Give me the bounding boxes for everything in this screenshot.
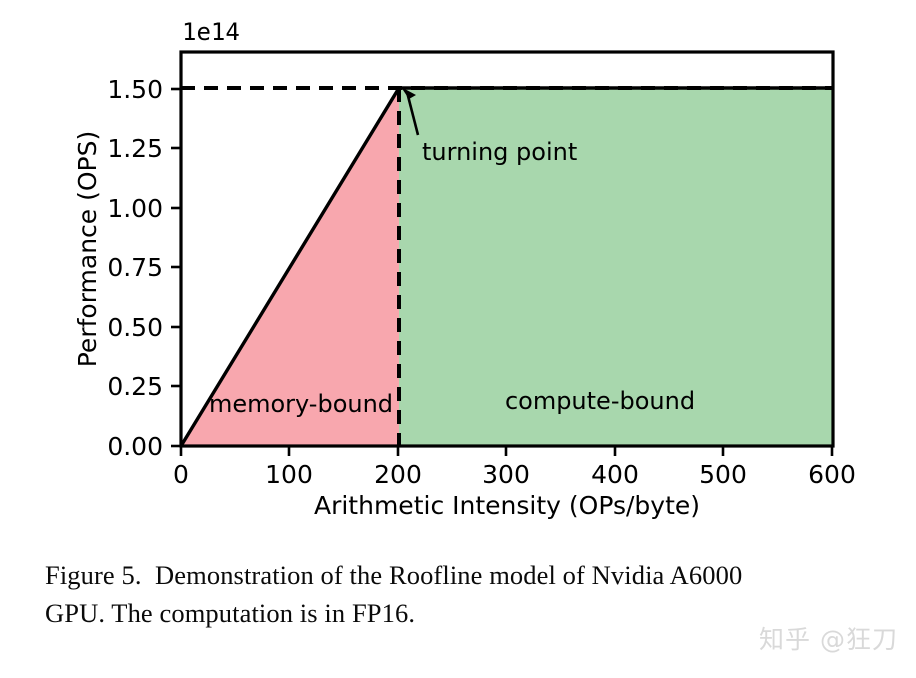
x-tick-label-300: 300 <box>482 460 530 489</box>
x-tick-label-0: 0 <box>173 460 189 489</box>
roofline-chart: turning point memory-bound compute-bound… <box>0 0 916 540</box>
y-tick-label-075: 0.75 <box>107 253 163 282</box>
x-tick-label-600: 600 <box>808 460 856 489</box>
y-tick-label-125: 1.25 <box>107 134 163 163</box>
y-tick-label-025: 0.25 <box>107 372 163 401</box>
y-axis-offset-text: 1e14 <box>182 18 240 46</box>
memory-bound-label: memory-bound <box>209 390 393 418</box>
x-axis-title: Arithmetic Intensity (OPs/byte) <box>314 491 700 520</box>
y-tick-label-100: 1.00 <box>107 194 163 223</box>
zhihu-watermark: 知乎 @狂刀 <box>759 620 898 656</box>
x-tick-label-200: 200 <box>374 460 422 489</box>
y-axis-title: Performance (OPS) <box>73 131 102 368</box>
y-tick-label-050: 0.50 <box>107 313 163 342</box>
y-tick-label-150: 1.50 <box>107 75 163 104</box>
x-tick-label-500: 500 <box>699 460 747 489</box>
y-tick-label-000: 0.00 <box>107 432 163 461</box>
x-tick-label-100: 100 <box>265 460 313 489</box>
turning-point-label: turning point <box>422 138 577 166</box>
x-tick-label-400: 400 <box>591 460 639 489</box>
y-axis-tick-labels: 0.00 0.25 0.50 0.75 1.00 1.25 1.50 <box>107 75 163 461</box>
caption-line-1: Figure 5. Demonstration of the Roofline … <box>45 556 885 594</box>
chart-canvas: turning point memory-bound compute-bound… <box>0 0 916 540</box>
compute-bound-label: compute-bound <box>505 387 695 415</box>
x-axis-tick-labels: 0 100 200 300 400 500 600 <box>173 460 856 489</box>
figure-page: turning point memory-bound compute-bound… <box>0 0 916 678</box>
